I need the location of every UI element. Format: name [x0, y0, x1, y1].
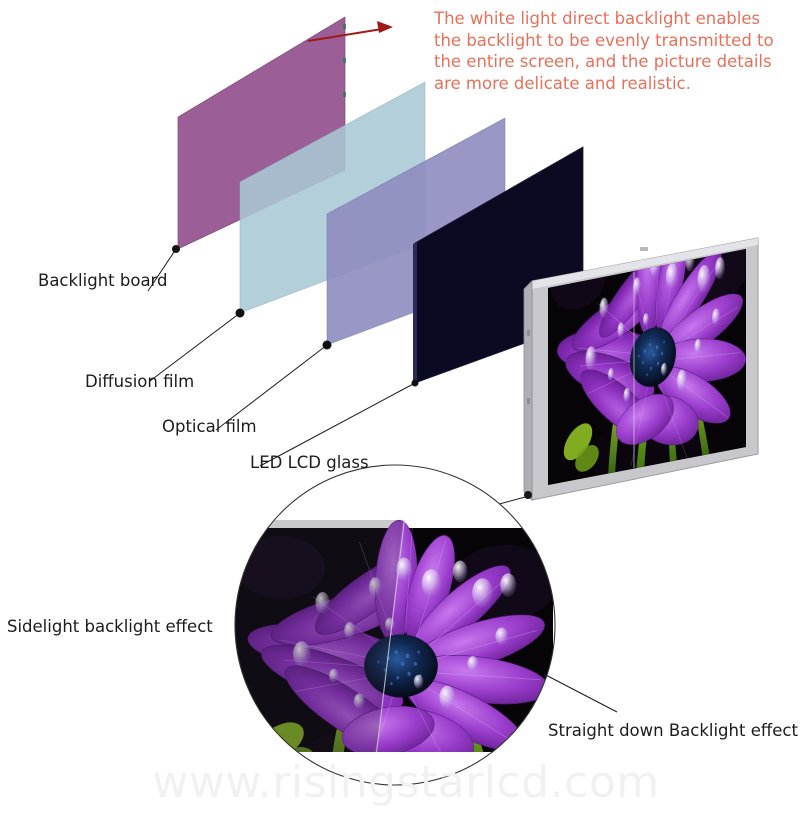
diagram-graphics [0, 0, 812, 826]
label-backlight-board: Backlight board [38, 271, 168, 290]
label-diffusion-film: Diffusion film [85, 372, 194, 391]
red-arrow [308, 21, 393, 41]
label-straight-down-backlight-effect: Straight down Backlight effect [548, 721, 798, 740]
label-sidelight-backlight-effect: Sidelight backlight effect [7, 617, 213, 636]
magnified-detail-circle [228, 465, 568, 793]
diagram-canvas: The white light direct backlight enables… [0, 0, 812, 826]
label-led-lcd-glass: LED LCD glass [250, 453, 369, 472]
label-optical-film: Optical film [162, 417, 257, 436]
callout-text: The white light direct backlight enables… [434, 8, 798, 94]
